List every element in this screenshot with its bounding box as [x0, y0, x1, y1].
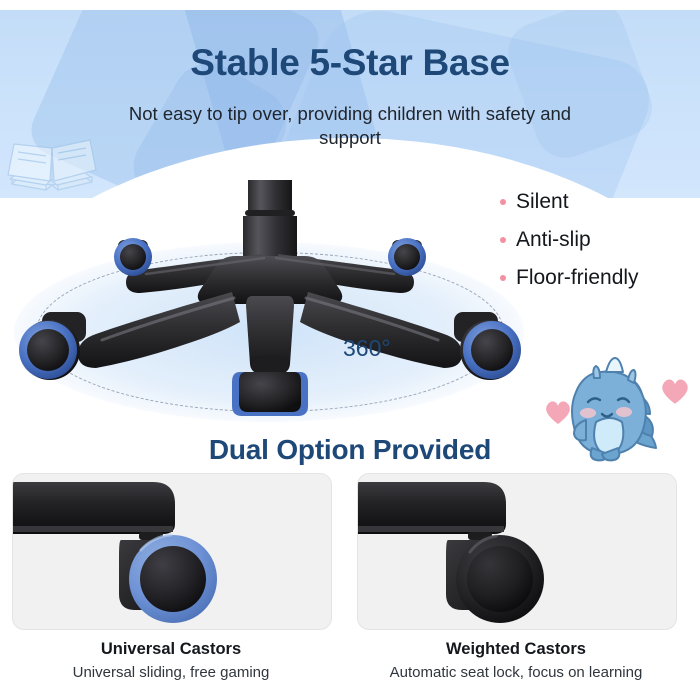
feature-item-anti-slip: Anti-slip	[500, 228, 700, 252]
bullet-dot-icon	[500, 199, 506, 205]
product-infographic: Stable 5-Star Base Not easy to tip over,…	[0, 0, 700, 700]
heart-icon	[544, 400, 572, 426]
weighted-castor-image	[358, 474, 676, 629]
option-title: Universal Castors	[12, 640, 330, 659]
caster-rear-right	[388, 238, 426, 276]
feature-label: Floor-friendly	[516, 266, 639, 290]
hero-banner: Stable 5-Star Base Not easy to tip over,…	[0, 10, 700, 198]
caster-front-right	[454, 312, 521, 380]
section-title-dual-option: Dual Option Provided	[0, 434, 700, 466]
chair-base-graphic	[0, 180, 540, 430]
option-subtitle: Universal sliding, free gaming	[12, 664, 330, 681]
option-subtitle: Automatic seat lock, focus on learning	[357, 664, 675, 681]
feature-list: Silent Anti-slip Floor-friendly	[500, 190, 700, 304]
caster-front-center	[232, 356, 308, 416]
option-card-universal-castors[interactable]	[12, 473, 332, 630]
option-title: Weighted Castors	[357, 640, 675, 659]
page-title: Stable 5-Star Base	[0, 44, 700, 81]
bullet-dot-icon	[500, 275, 506, 281]
caption-weighted-castors: Weighted Castors Automatic seat lock, fo…	[357, 640, 675, 681]
bullet-dot-icon	[500, 237, 506, 243]
option-cards	[0, 473, 700, 633]
rotation-degree-label: 360°	[343, 335, 391, 362]
caster-rear-left	[114, 238, 152, 276]
feature-item-floor-friendly: Floor-friendly	[500, 266, 700, 290]
five-star-base-illustration	[0, 180, 540, 430]
page-subtitle: Not easy to tip over, providing children…	[105, 102, 595, 151]
caption-universal-castors: Universal Castors Universal sliding, fre…	[12, 640, 330, 681]
option-card-weighted-castors[interactable]	[357, 473, 677, 630]
feature-label: Silent	[516, 190, 569, 214]
feature-item-silent: Silent	[500, 190, 700, 214]
universal-castor-image	[13, 474, 331, 629]
heart-icon	[660, 378, 690, 406]
caster-front-left	[19, 312, 86, 380]
feature-label: Anti-slip	[516, 228, 591, 252]
